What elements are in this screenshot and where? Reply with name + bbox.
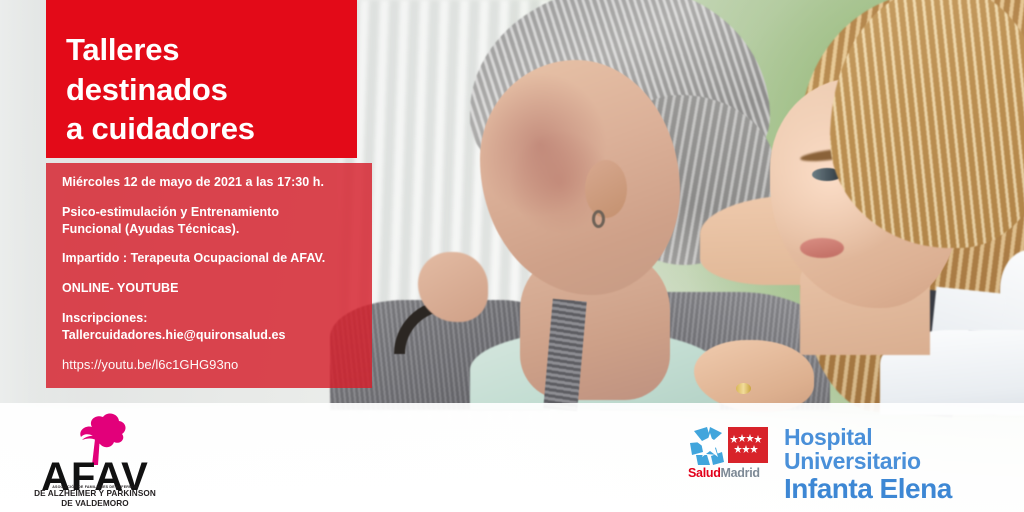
info-item-registration: Inscripciones:Tallercuidadores.hie@quiro… <box>62 310 362 344</box>
afav-tagline-line-2: DE ALZHEIMER Y PARKINSON <box>22 489 168 499</box>
page-title: Talleres destinadosa cuidadores <box>66 30 346 149</box>
afav-logo[interactable]: AFAV ASOCIACIÓN DE FAMILIARES DE ENFERMO… <box>22 409 168 507</box>
info-item-speaker: Impartido : Terapeuta Ocupacional de AFA… <box>62 250 362 267</box>
madrid-text: Madrid <box>721 466 760 480</box>
info-item-channel: ONLINE- YOUTUBE <box>62 280 362 297</box>
info-item-topic: Psico-estimulación y EntrenamientoFuncio… <box>62 204 362 238</box>
saludmadrid-star-icon <box>688 425 776 467</box>
saludmadrid-wordmark: SaludMadrid <box>688 467 776 480</box>
info-panel: Miércoles 12 de mayo de 2021 a las 17:30… <box>46 163 372 388</box>
info-item-topic-line-2: Funcional (Ayudas Técnicas). <box>62 222 239 236</box>
hospital-name-line-1: Hospital Universitario <box>784 425 1008 473</box>
afav-tagline: ASOCIACIÓN DE FAMILIARES DE ENFERMOS DE … <box>22 485 168 509</box>
poster-canvas: Talleres destinadosa cuidadores Miércole… <box>0 0 1024 512</box>
info-item-datetime: Miércoles 12 de mayo de 2021 a las 17:30… <box>62 174 362 191</box>
hospital-logo[interactable]: SaludMadrid Hospital Universitario Infan… <box>688 425 1008 491</box>
afav-tagline-line-3: DE VALDEMORO <box>22 499 168 509</box>
info-list: Miércoles 12 de mayo de 2021 a las 17:30… <box>62 174 362 387</box>
info-item-topic-line-1: Psico-estimulación y Entrenamiento <box>62 205 279 219</box>
youtube-link[interactable]: https://youtu.be/l6c1GHG93no <box>62 356 362 373</box>
hospital-name-line-2: Infanta Elena <box>784 474 1008 504</box>
page-title-line-2: a cuidadores <box>66 111 255 146</box>
salud-text: Salud <box>688 466 721 480</box>
footer-bar: AFAV ASOCIACIÓN DE FAMILIARES DE ENFERMO… <box>0 403 1024 512</box>
registration-email[interactable]: Tallercuidadores.hie@quironsalud.es <box>62 328 285 342</box>
hospital-name: Hospital Universitario Infanta Elena <box>784 425 1008 505</box>
madrid-seven-stars-icon <box>728 427 768 463</box>
page-title-line-1: Talleres destinados <box>66 32 228 107</box>
title-panel: Talleres destinadosa cuidadores <box>46 0 357 158</box>
registration-label: Inscripciones: <box>62 311 147 325</box>
